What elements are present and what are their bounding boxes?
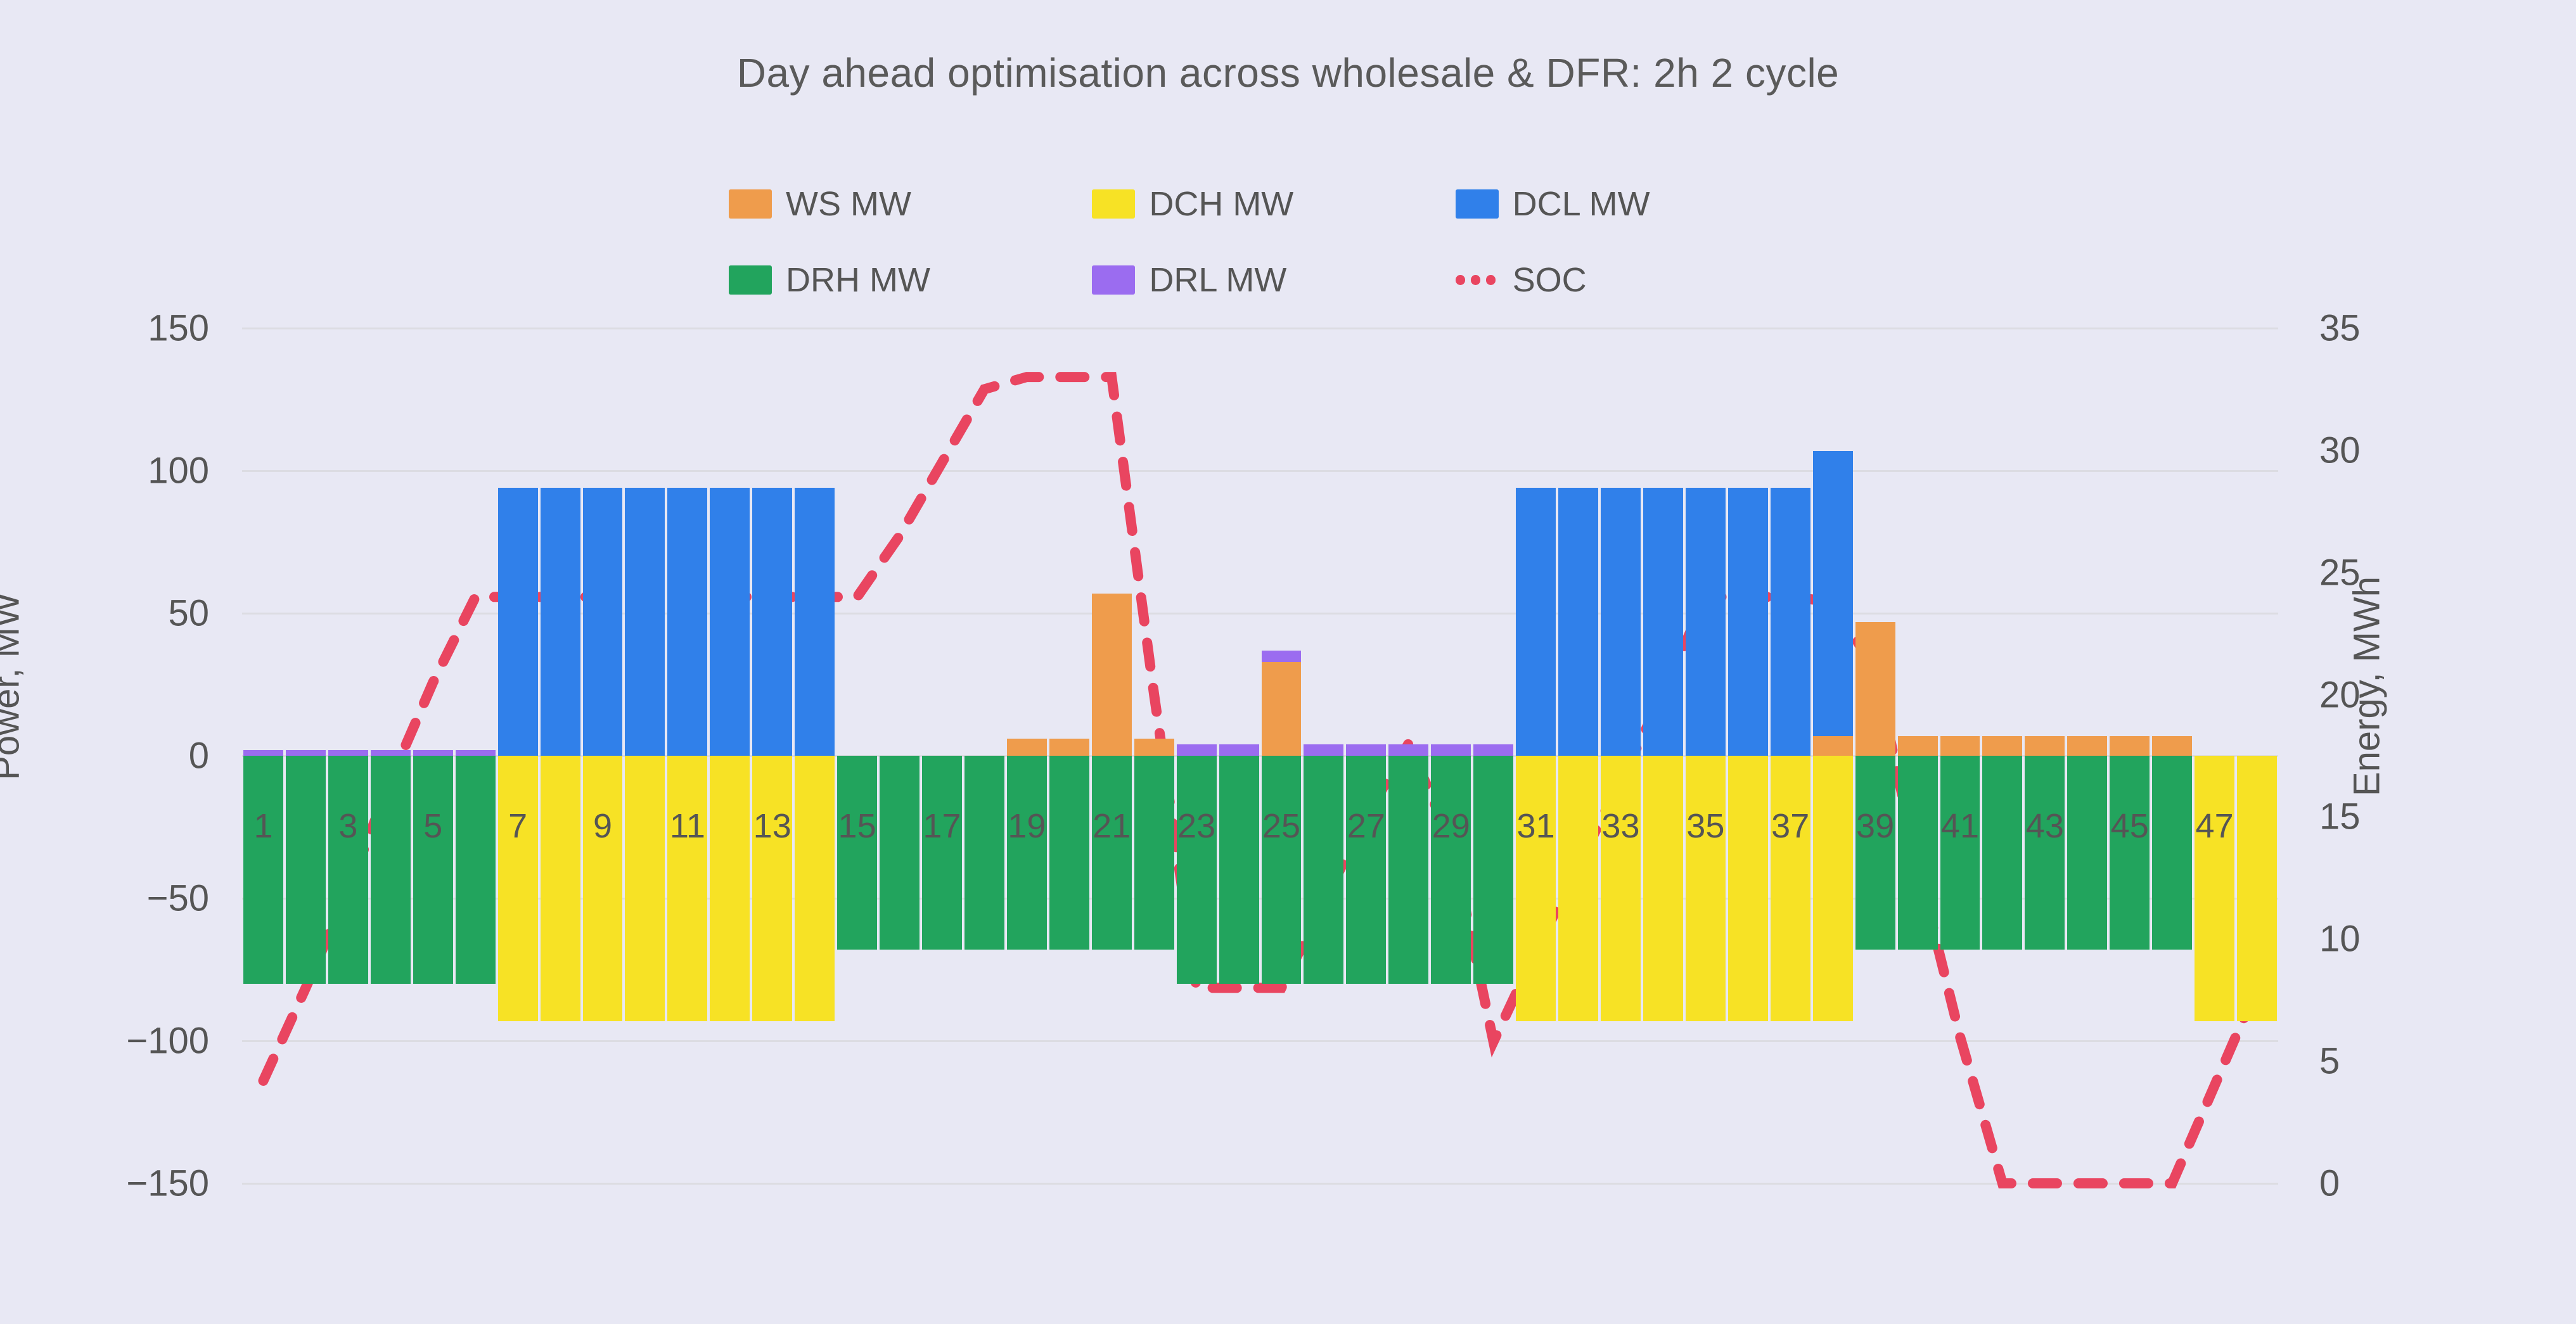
bar-segment-ws-mw[interactable] — [1134, 739, 1174, 756]
bar-segment-dch-mw[interactable] — [1728, 756, 1768, 1021]
y-axis-left-tick: 150 — [148, 307, 209, 350]
bar-segment-drh-mw[interactable] — [922, 756, 962, 950]
y-axis-right-tick: 30 — [2319, 429, 2361, 471]
bar-segment-drh-mw[interactable] — [1007, 756, 1047, 950]
bar-group[interactable] — [921, 328, 963, 1183]
bar-segment-dch-mw[interactable] — [752, 756, 792, 1021]
bar-segment-drl-mw[interactable] — [1304, 744, 1343, 756]
legend-item-label: DRH MW — [786, 260, 930, 300]
bar-segment-dcl-mw[interactable] — [1558, 488, 1598, 756]
bar-group[interactable] — [2236, 328, 2278, 1183]
bar-group[interactable] — [963, 328, 1006, 1183]
legend-item-label: WS MW — [786, 184, 911, 224]
color-swatch-icon — [1092, 265, 1135, 295]
bar-segment-drh-mw[interactable] — [1898, 756, 1938, 950]
bar-segment-ws-mw[interactable] — [1092, 594, 1132, 756]
legend-item-drl-mw[interactable]: DRL MW — [1092, 260, 1455, 300]
bar-segment-drl-mw[interactable] — [328, 750, 368, 756]
bar-segment-drh-mw[interactable] — [456, 756, 496, 984]
y-axis-left-tick: −50 — [147, 877, 209, 920]
bar-segment-drl-mw[interactable] — [371, 750, 411, 756]
bar-segment-ws-mw[interactable] — [1940, 736, 1980, 756]
y-axis-right-tick: 10 — [2319, 918, 2361, 960]
bar-segment-dch-mw[interactable] — [795, 756, 835, 1021]
y-axis-left: 150100500−50−100−150 — [0, 0, 209, 1324]
bar-segment-drh-mw[interactable] — [413, 756, 453, 984]
bar-group[interactable] — [2151, 328, 2193, 1183]
bar-group[interactable] — [497, 328, 539, 1183]
bar-group[interactable] — [2193, 328, 2236, 1183]
legend-item-label: DCH MW — [1149, 184, 1293, 224]
bar-segment-drh-mw[interactable] — [1855, 756, 1895, 950]
bar-group[interactable] — [2023, 328, 2066, 1183]
bar-group[interactable] — [1939, 328, 1982, 1183]
bar-group[interactable] — [1091, 328, 1133, 1183]
bar-group[interactable] — [1345, 328, 1387, 1183]
bar-group[interactable] — [666, 328, 708, 1183]
bar-segment-dcl-mw[interactable] — [795, 488, 835, 756]
bar-segment-dcl-mw[interactable] — [1601, 488, 1641, 756]
bar-segment-drl-mw[interactable] — [286, 750, 326, 756]
bar-segment-drh-mw[interactable] — [371, 756, 411, 984]
bar-group[interactable] — [582, 328, 624, 1183]
bar-segment-dcl-mw[interactable] — [752, 488, 792, 756]
bar-segment-dch-mw[interactable] — [498, 756, 538, 1021]
bar-segment-ws-mw[interactable] — [1898, 736, 1938, 756]
bar-group[interactable] — [1599, 328, 1642, 1183]
bar-segment-dch-mw[interactable] — [625, 756, 665, 1021]
bar-segment-dch-mw[interactable] — [541, 756, 580, 1021]
bar-segment-dch-mw[interactable] — [2195, 756, 2234, 1021]
bar-segment-dch-mw[interactable] — [2237, 756, 2277, 1021]
bar-group[interactable] — [751, 328, 793, 1183]
bar-group[interactable] — [793, 328, 836, 1183]
bar-segment-drh-mw[interactable] — [2067, 756, 2107, 950]
bar-segment-dcl-mw[interactable] — [1771, 488, 1810, 756]
bar-segment-drh-mw[interactable] — [328, 756, 368, 984]
bar-segment-ws-mw[interactable] — [1262, 662, 1302, 756]
bar-group[interactable] — [1981, 328, 2023, 1183]
bar-segment-drl-mw[interactable] — [1431, 744, 1471, 756]
bar-segment-dch-mw[interactable] — [1643, 756, 1683, 1021]
bar-group[interactable] — [1260, 328, 1303, 1183]
bar-group[interactable] — [1430, 328, 1472, 1183]
color-swatch-icon — [1092, 189, 1135, 219]
bar-segment-drh-mw[interactable] — [2152, 756, 2192, 950]
bar-group[interactable] — [1133, 328, 1176, 1183]
y-axis-left-tick: 0 — [189, 735, 209, 777]
bar-segment-dch-mw[interactable] — [667, 756, 707, 1021]
bar-segment-drl-mw[interactable] — [1262, 651, 1302, 662]
bar-segment-dch-mw[interactable] — [1558, 756, 1598, 1021]
bar-group[interactable] — [1176, 328, 1218, 1183]
bar-group[interactable] — [708, 328, 751, 1183]
bar-segment-drl-mw[interactable] — [1177, 744, 1217, 756]
bar-segment-drh-mw[interactable] — [880, 756, 920, 950]
y-axis-left-tick: −150 — [126, 1162, 209, 1205]
bar-segment-drh-mw[interactable] — [1262, 756, 1302, 984]
bar-group[interactable] — [624, 328, 666, 1183]
bar-segment-drl-mw[interactable] — [456, 750, 496, 756]
bar-segment-drh-mw[interactable] — [1049, 756, 1089, 950]
bar-group[interactable] — [242, 328, 285, 1183]
bar-segment-drl-mw[interactable] — [243, 750, 283, 756]
bar-segment-dcl-mw[interactable] — [1516, 488, 1556, 756]
bar-segment-drh-mw[interactable] — [1388, 756, 1428, 984]
y-axis-left-title: Power, MW — [0, 528, 28, 845]
color-swatch-icon — [1456, 189, 1499, 219]
legend-item-dch-mw[interactable]: DCH MW — [1092, 184, 1455, 224]
bar-group[interactable] — [1769, 328, 1812, 1183]
bar-segment-ws-mw[interactable] — [1982, 736, 2022, 756]
bar-group[interactable] — [836, 328, 878, 1183]
bar-segment-dch-mw[interactable] — [710, 756, 750, 1021]
bar-segment-drh-mw[interactable] — [837, 756, 877, 950]
bar-group[interactable] — [2066, 328, 2108, 1183]
bar-segment-dch-mw[interactable] — [1813, 756, 1853, 1021]
bar-segment-dcl-mw[interactable] — [498, 488, 538, 756]
page-title: Day ahead optimisation across wholesale … — [0, 49, 2576, 96]
bar-group[interactable] — [285, 328, 327, 1183]
bar-group[interactable] — [1684, 328, 1727, 1183]
bar-segment-dch-mw[interactable] — [1686, 756, 1726, 1021]
legend-item-drh-mw[interactable]: DRH MW — [729, 260, 1092, 300]
bar-group[interactable] — [1897, 328, 1939, 1183]
bar-segment-drl-mw[interactable] — [413, 750, 453, 756]
chart-canvas: Day ahead optimisation across wholesale … — [0, 0, 2576, 1324]
bar-segment-drh-mw[interactable] — [1177, 756, 1217, 984]
y-axis-left-tick: 100 — [148, 450, 209, 492]
y-axis-left-tick: −100 — [126, 1020, 209, 1062]
bar-group[interactable] — [1218, 328, 1260, 1183]
bar-segment-dch-mw[interactable] — [583, 756, 623, 1021]
bar-group[interactable] — [1642, 328, 1684, 1183]
bar-segment-dcl-mw[interactable] — [667, 488, 707, 756]
bar-segment-ws-mw[interactable] — [2152, 736, 2192, 756]
bar-group[interactable] — [1387, 328, 1430, 1183]
bar-segment-drh-mw[interactable] — [2110, 756, 2150, 950]
bar-segment-dch-mw[interactable] — [1771, 756, 1810, 1021]
bar-group[interactable] — [1727, 328, 1769, 1183]
bar-group[interactable] — [454, 328, 497, 1183]
bar-segment-drl-mw[interactable] — [1473, 744, 1513, 756]
bar-segment-ws-mw[interactable] — [2110, 736, 2150, 756]
bar-segment-ws-mw[interactable] — [1007, 739, 1047, 756]
bar-segment-drh-mw[interactable] — [1982, 756, 2022, 950]
bar-group[interactable] — [539, 328, 582, 1183]
bar-group[interactable] — [1812, 328, 1854, 1183]
legend-item-label: DCL MW — [1513, 184, 1650, 224]
bar-group[interactable] — [1854, 328, 1897, 1183]
bar-segment-ws-mw[interactable] — [1049, 739, 1089, 756]
legend-item-soc[interactable]: SOC — [1456, 260, 1819, 300]
bar-segment-drh-mw[interactable] — [1092, 756, 1132, 950]
bar-segment-drh-mw[interactable] — [1304, 756, 1343, 984]
bar-segment-drh-mw[interactable] — [1346, 756, 1386, 984]
bar-group[interactable] — [2108, 328, 2151, 1183]
bar-segment-ws-mw[interactable] — [1813, 736, 1853, 756]
y-axis-right-tick: 5 — [2319, 1040, 2340, 1083]
bar-segment-ws-mw[interactable] — [2025, 736, 2065, 756]
bar-segment-dcl-mw[interactable] — [541, 488, 580, 756]
bar-segment-drh-mw[interactable] — [1473, 756, 1513, 984]
legend-item-label: DRL MW — [1149, 260, 1286, 300]
y-axis-right-tick: 35 — [2319, 307, 2361, 350]
bar-segment-drl-mw[interactable] — [1346, 744, 1386, 756]
bar-segment-drh-mw[interactable] — [1431, 756, 1471, 984]
bar-group[interactable] — [327, 328, 369, 1183]
legend-item-dcl-mw[interactable]: DCL MW — [1456, 184, 1819, 224]
bar-group[interactable] — [412, 328, 454, 1183]
y-axis-right-title: Energy, MWh — [2346, 528, 2388, 845]
bar-segment-dch-mw[interactable] — [1516, 756, 1556, 1021]
bar-segment-drh-mw[interactable] — [286, 756, 326, 984]
color-swatch-icon — [729, 189, 772, 219]
bar-segment-dcl-mw[interactable] — [710, 488, 750, 756]
bar-segment-drh-mw[interactable] — [1134, 756, 1174, 950]
bar-segment-dcl-mw[interactable] — [1686, 488, 1726, 756]
bar-segment-dcl-mw[interactable] — [1643, 488, 1683, 756]
bar-segment-ws-mw[interactable] — [1855, 622, 1895, 756]
bar-segment-drh-mw[interactable] — [2025, 756, 2065, 950]
bar-segment-drh-mw[interactable] — [1940, 756, 1980, 950]
bar-segment-dcl-mw[interactable] — [1813, 451, 1853, 736]
bar-group[interactable] — [1515, 328, 1557, 1183]
bar-segment-drh-mw[interactable] — [243, 756, 283, 984]
bar-group[interactable] — [1048, 328, 1091, 1183]
bar-segment-drl-mw[interactable] — [1219, 744, 1259, 756]
bar-segment-dch-mw[interactable] — [1601, 756, 1641, 1021]
bar-group[interactable] — [1472, 328, 1515, 1183]
bar-group[interactable] — [1006, 328, 1048, 1183]
bar-segment-drl-mw[interactable] — [1388, 744, 1428, 756]
bar-group[interactable] — [878, 328, 921, 1183]
bar-segment-dcl-mw[interactable] — [625, 488, 665, 756]
y-axis-left-tick: 50 — [168, 592, 209, 635]
bar-segment-drh-mw[interactable] — [964, 756, 1004, 950]
bar-group[interactable] — [369, 328, 412, 1183]
legend-item-ws-mw[interactable]: WS MW — [729, 184, 1092, 224]
legend-item-label: SOC — [1513, 260, 1587, 300]
bar-segment-drh-mw[interactable] — [1219, 756, 1259, 984]
bar-segment-dcl-mw[interactable] — [583, 488, 623, 756]
bar-group[interactable] — [1302, 328, 1345, 1183]
bar-segment-ws-mw[interactable] — [2067, 736, 2107, 756]
dashed-line-icon — [1456, 265, 1499, 295]
chart-legend: WS MWDCH MWDCL MWDRH MWDRL MWSOC — [729, 166, 1819, 318]
y-axis-right-tick: 0 — [2319, 1162, 2340, 1205]
color-swatch-icon — [729, 265, 772, 295]
bar-segment-dcl-mw[interactable] — [1728, 488, 1768, 756]
plot-area: 1357911131517192123252729313335373941434… — [242, 328, 2278, 1183]
bar-group[interactable] — [1557, 328, 1599, 1183]
